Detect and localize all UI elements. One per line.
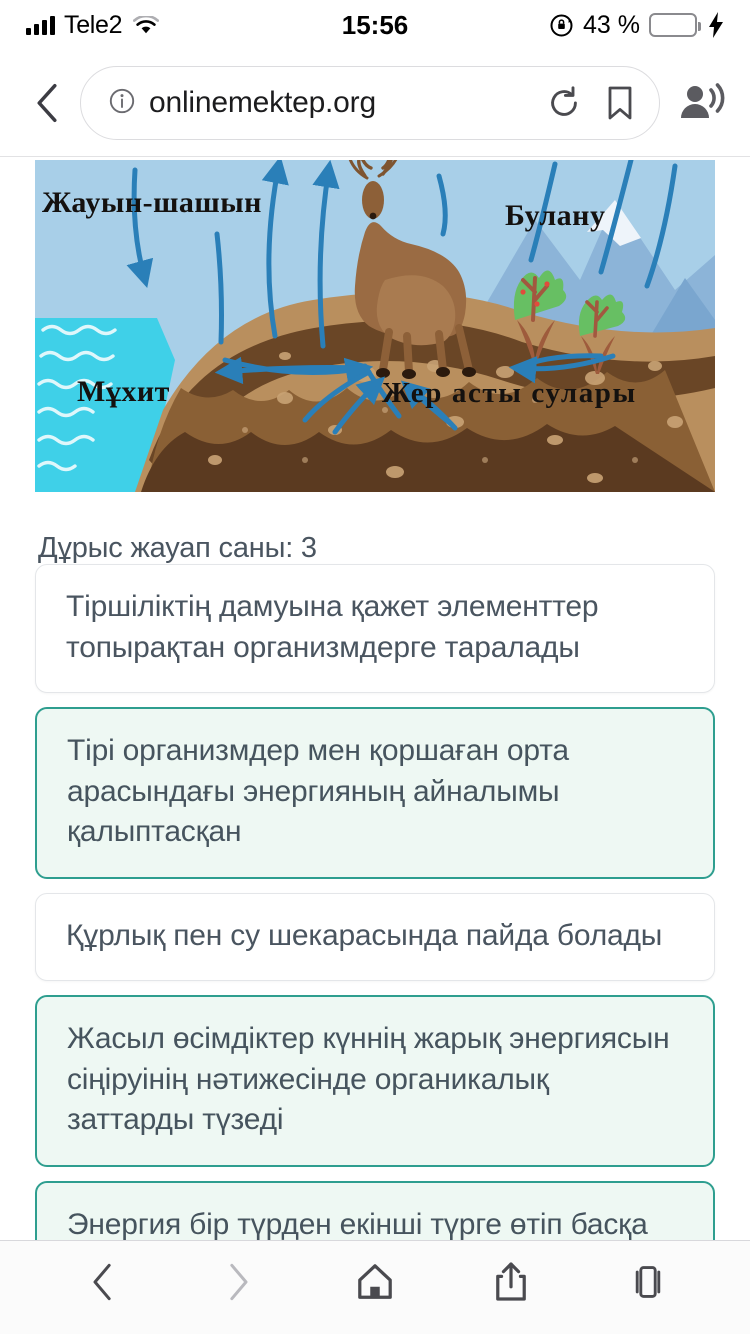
- person-speaking-icon[interactable]: [676, 81, 728, 125]
- figure-label-evaporation: Булану: [505, 199, 605, 233]
- reload-icon[interactable]: [547, 86, 581, 120]
- phone-screen: Tele2 15:56 43 %: [0, 0, 750, 1334]
- answer-option-label: Тіршіліктің дамуына қажет элементтер топ…: [66, 590, 598, 664]
- back-button[interactable]: [62, 1247, 142, 1317]
- status-bar: Tele2 15:56 43 %: [0, 0, 750, 50]
- forward-button[interactable]: [199, 1247, 279, 1317]
- answer-option-5[interactable]: Энергия бір түрден екінші түрге өтіп бас…: [35, 1181, 715, 1241]
- browser-toolbar: onlinemektep.org: [0, 50, 750, 157]
- answer-option-2[interactable]: Тірі организмдер мен қоршаған орта арасы…: [35, 707, 715, 879]
- browser-bottom-toolbar: [0, 1240, 750, 1334]
- answer-option-3[interactable]: Құрлық пен су шекарасында пайда болады: [35, 893, 715, 982]
- figure-label-precipitation: Жауын-шашын: [42, 186, 262, 220]
- figure-label-ocean: Мұхит: [77, 375, 170, 409]
- answer-option-label: Тірі организмдер мен қоршаған орта арасы…: [67, 734, 569, 848]
- url-bar[interactable]: onlinemektep.org: [80, 66, 660, 140]
- share-button[interactable]: [471, 1247, 551, 1317]
- water-cycle-diagram: Жауын-шашын Булану Мұхит Жер асты сулары: [35, 160, 715, 492]
- home-button[interactable]: [335, 1247, 415, 1317]
- web-page-content: Жауын-шашын Булану Мұхит Жер асты сулары…: [0, 157, 750, 1240]
- answer-option-label: Құрлық пен су шекарасында пайда болады: [66, 919, 662, 952]
- answer-option-label: Жасыл өсімдіктер күннің жарық энергиясын…: [67, 1022, 669, 1136]
- answer-option-label: Энергия бір түрден екінші түрге өтіп бас…: [67, 1208, 648, 1241]
- figure-label-groundwater: Жер асты сулары: [382, 377, 637, 410]
- correct-answers-count: Дұрыс жауап саны: 3: [38, 532, 317, 565]
- answer-options-list: Тіршіліктің дамуына қажет элементтер топ…: [35, 564, 715, 1240]
- url-text[interactable]: onlinemektep.org: [149, 86, 533, 120]
- bookmark-icon[interactable]: [607, 86, 633, 120]
- answer-option-4[interactable]: Жасыл өсімдіктер күннің жарық энергиясын…: [35, 995, 715, 1167]
- answer-option-1[interactable]: Тіршіліктің дамуына қажет элементтер топ…: [35, 564, 715, 693]
- tabs-button[interactable]: [608, 1247, 688, 1317]
- info-circle-icon[interactable]: [109, 88, 135, 119]
- clock-label: 15:56: [0, 10, 750, 41]
- battery-icon: [649, 13, 697, 37]
- browser-back-button[interactable]: [20, 76, 74, 130]
